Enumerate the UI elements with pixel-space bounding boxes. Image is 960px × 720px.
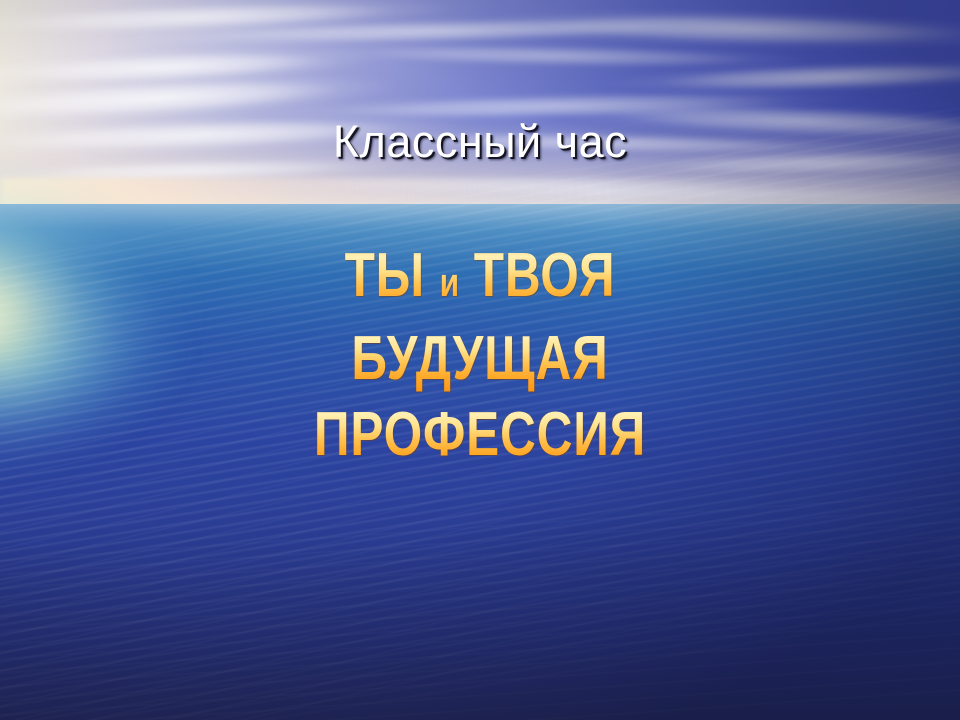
- slide-title: Классный час: [0, 116, 960, 168]
- presentation-slide: Классный час ТЫ и ТВОЯ БУДУЩАЯ ПРОФЕССИЯ: [0, 0, 960, 720]
- wordart-line-3: ПРОФЕССИЯ: [96, 397, 864, 473]
- wordart-heading: ТЫ и ТВОЯ БУДУЩАЯ ПРОФЕССИЯ: [0, 238, 960, 473]
- wordart-line-1-part-1: ТЫ: [345, 241, 425, 310]
- wordart-line-1-part-2: и: [440, 261, 460, 305]
- wordart-line-2: БУДУЩАЯ: [96, 321, 864, 397]
- wordart-line-1-part-3: ТВОЯ: [474, 241, 616, 310]
- wordart-line-1: ТЫ и ТВОЯ: [96, 238, 864, 321]
- slide-content: Классный час ТЫ и ТВОЯ БУДУЩАЯ ПРОФЕССИЯ: [0, 0, 960, 720]
